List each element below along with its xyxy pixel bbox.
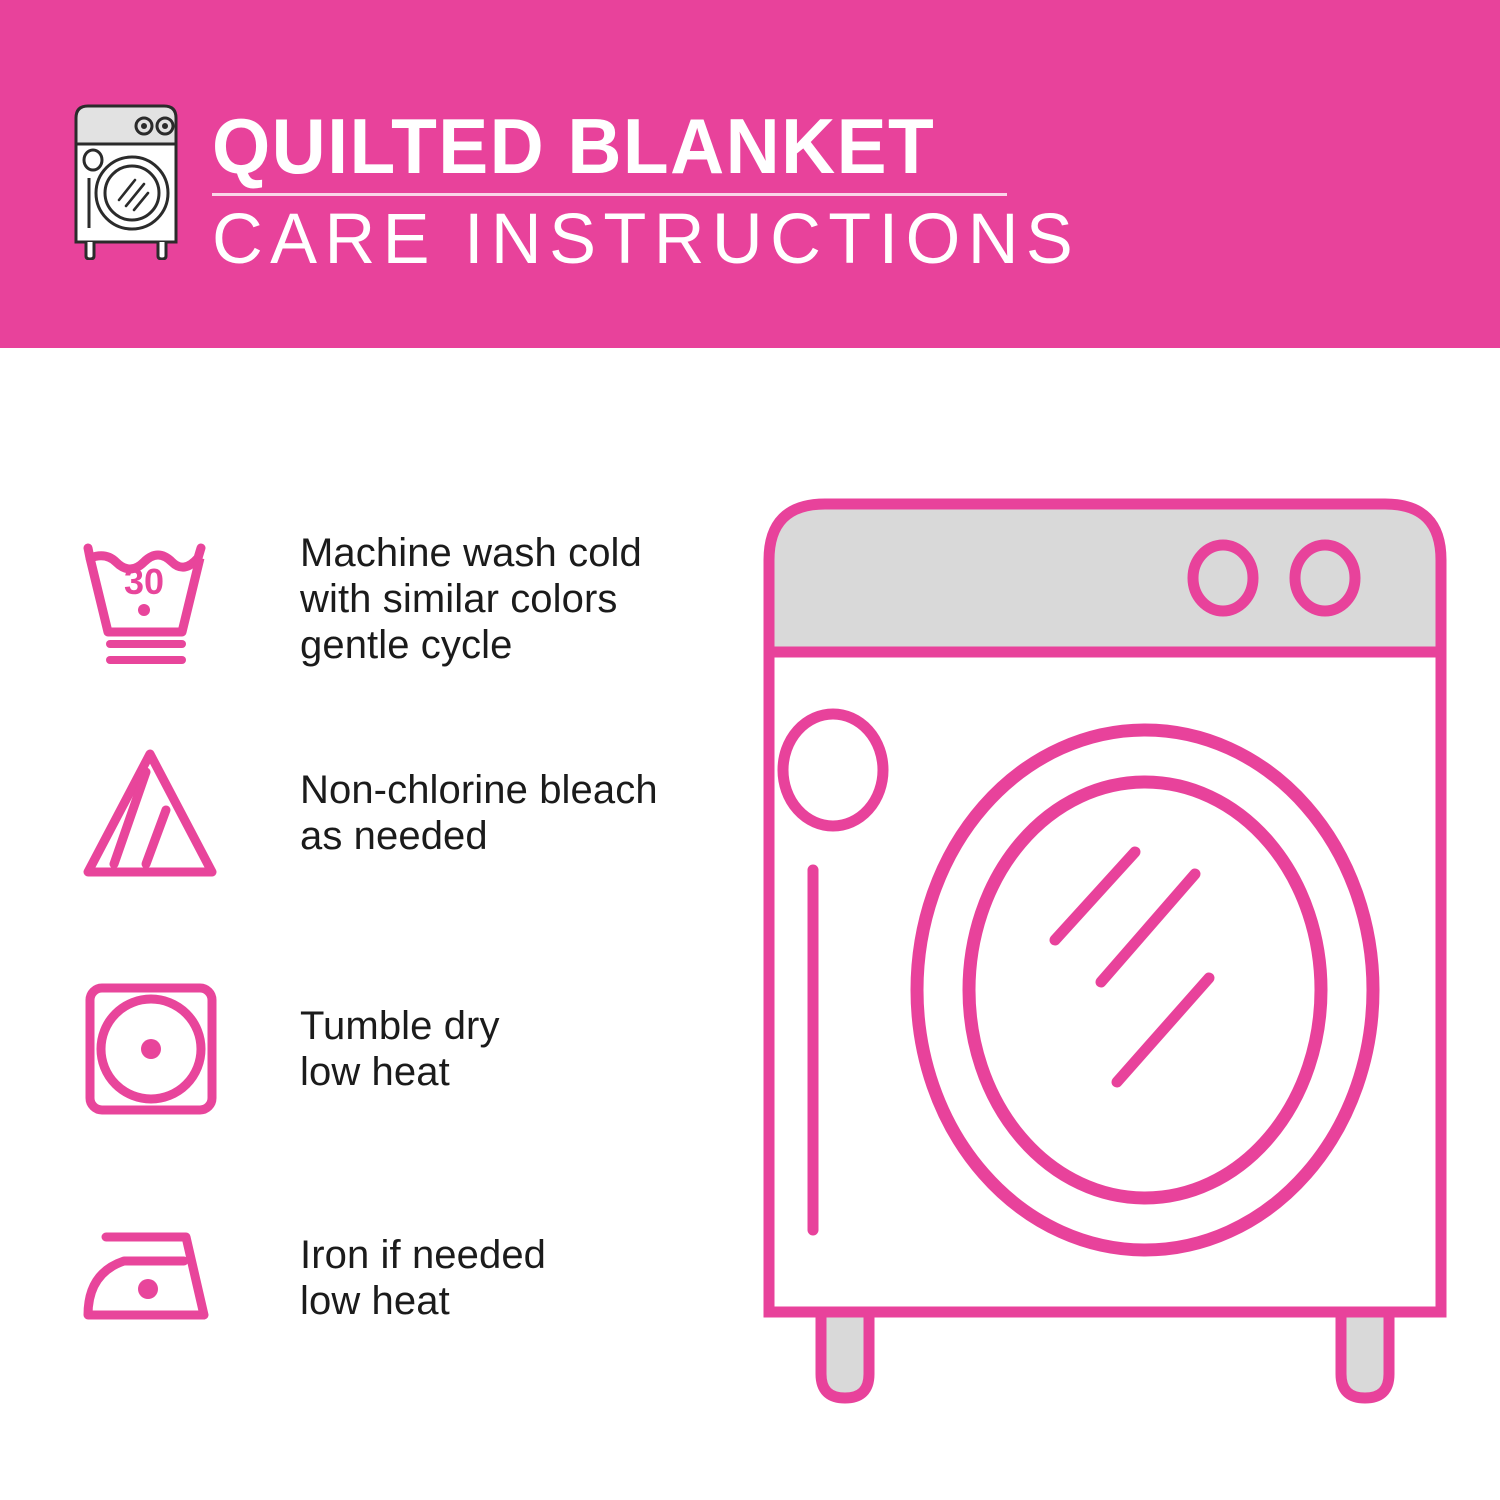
care-row-tumble-dry: Tumble dry low heat xyxy=(72,974,712,1124)
wash-temperature-value: 30 xyxy=(124,561,164,602)
iron-low-heat-icon xyxy=(72,1203,232,1353)
control-panel xyxy=(769,504,1441,652)
care-label-machine-wash: Machine wash cold with similar colors ge… xyxy=(300,530,642,668)
header-content: QUILTED BLANKET CARE INSTRUCTIONS xyxy=(62,100,1089,278)
care-label-tumble-dry: Tumble dry low heat xyxy=(300,1003,500,1095)
care-row-iron: Iron if needed low heat xyxy=(72,1203,712,1353)
leg-left xyxy=(821,1312,869,1398)
leg-right xyxy=(1341,1312,1389,1398)
page-subtitle: CARE INSTRUCTIONS xyxy=(212,202,1080,278)
header-titles: QUILTED BLANKET CARE INSTRUCTIONS xyxy=(212,100,1089,278)
washing-machine-icon xyxy=(62,100,190,260)
care-label-bleach: Non-chlorine bleach as needed xyxy=(300,767,658,859)
care-row-bleach: Non-chlorine bleach as needed xyxy=(72,738,712,888)
care-instructions-list: 30 Machine wash cold with similar colors… xyxy=(0,348,740,1500)
page-title: QUILTED BLANKET xyxy=(212,106,1054,186)
wash-tub-30-gentle-icon: 30 xyxy=(72,524,232,674)
washer-graphic xyxy=(735,470,1475,1430)
tumble-dry-low-icon xyxy=(72,974,232,1124)
title-divider xyxy=(212,193,1007,196)
header-banner: QUILTED BLANKET CARE INSTRUCTIONS xyxy=(0,0,1500,348)
care-row-machine-wash: 30 Machine wash cold with similar colors… xyxy=(72,524,712,674)
front-load-washing-machine-illustration xyxy=(735,470,1475,1430)
non-chlorine-bleach-triangle-icon xyxy=(72,738,232,888)
care-label-iron: Iron if needed low heat xyxy=(300,1232,546,1324)
